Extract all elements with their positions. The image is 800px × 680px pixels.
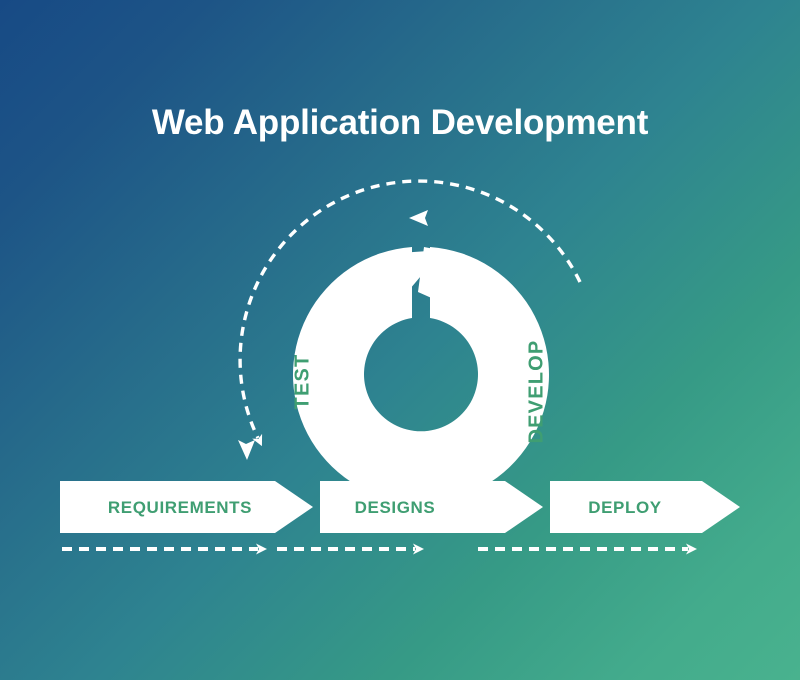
phase-label-designs: DESIGNS <box>305 498 485 518</box>
phase-label-requirements: REQUIREMENTS <box>60 498 300 518</box>
cycle-label-test: TEST <box>292 337 315 427</box>
dashed-arc-arrowhead-top <box>409 210 428 226</box>
infographic-canvas: Web Application Development <box>0 0 800 680</box>
phase-label-deploy: DEPLOY <box>530 498 720 518</box>
cycle-label-develop: DEVELOP <box>526 330 549 454</box>
lifecycle-diagram <box>0 0 800 680</box>
dashed-arc-arrowhead-bottom <box>238 440 255 460</box>
cycle-ring <box>293 247 549 503</box>
